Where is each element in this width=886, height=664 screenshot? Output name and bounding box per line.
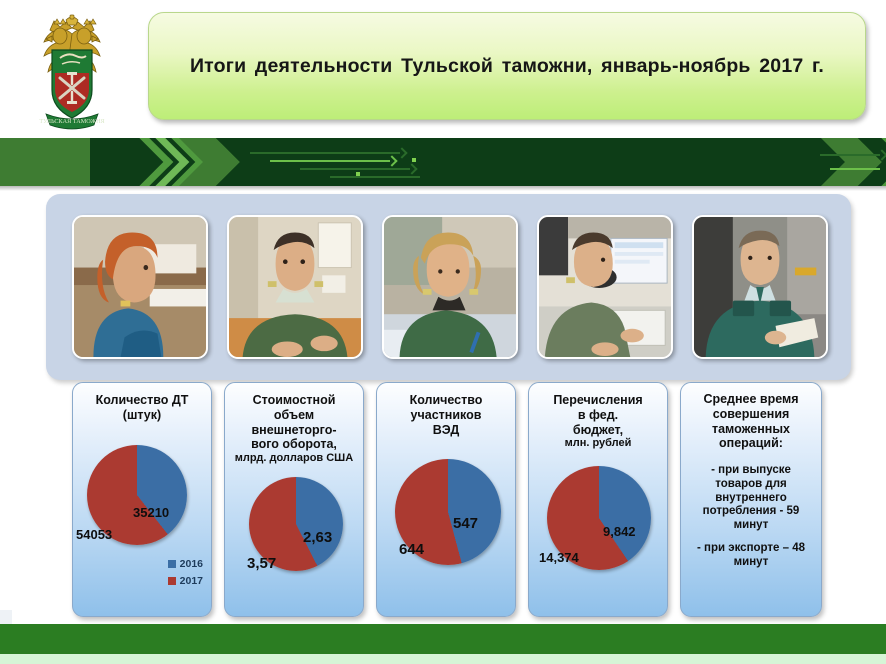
slide-title-box: Итоги деятельности Тульской таможни, янв… xyxy=(148,12,866,120)
panel-title-subunit: млрд. долларов США xyxy=(230,452,358,465)
panel-title-line: бюджет, xyxy=(534,423,662,438)
panel-title-line: объем xyxy=(230,408,358,423)
panel-title-line: Стоимостной xyxy=(230,393,358,408)
pie-label-2016: 9,842 xyxy=(603,524,636,539)
banner-arrow-tip-icon xyxy=(386,155,397,166)
panel-average-time-title: Среднее время совершения таможенных опер… xyxy=(681,383,821,451)
panel-declarations[interactable]: Количество ДТ (штук) 35210 54053 2016 20… xyxy=(72,382,212,617)
legend-swatch-icon xyxy=(168,560,176,568)
banner-arrow-icon xyxy=(830,168,880,170)
pie-label-2017: 644 xyxy=(399,541,424,558)
pie-label-2016: 547 xyxy=(453,515,478,532)
pie-chart-trade-volume: 2,63 3,57 xyxy=(225,477,363,571)
panel-title-line: внешнеторго- xyxy=(230,423,358,438)
panel-title-line: (штук) xyxy=(78,408,206,423)
panel-average-time-body: - при выпуске товаров для внутреннего по… xyxy=(681,451,821,570)
pie-chart-budget-transfers: 9,842 14,374 xyxy=(529,466,667,570)
panel-participants[interactable]: Количество участников ВЭД 547 644 xyxy=(376,382,516,617)
panel-budget-transfers[interactable]: Перечисления в фед. бюджет, млн. рублей … xyxy=(528,382,668,617)
banner-arrow-tip-icon xyxy=(406,163,417,174)
photo-strip-panel xyxy=(46,194,851,380)
slide-root: ТУЛЬСКАЯ ТАМОЖНЯ Итоги деятельности Туль… xyxy=(0,0,886,664)
bottom-green-bar xyxy=(0,624,886,654)
banner-arrow-icon xyxy=(250,152,400,154)
left-edge-filler xyxy=(0,610,12,624)
russian-customs-service-emblem: ТУЛЬСКАЯ ТАМОЖНЯ xyxy=(18,14,126,136)
pie-label-2016: 2,63 xyxy=(303,529,332,546)
banner-shadow xyxy=(0,186,886,191)
legend-label: 2016 xyxy=(180,558,203,570)
banner-arrow-icon xyxy=(330,176,420,178)
decorative-green-banner xyxy=(0,138,886,186)
banner-arrow-tip-icon xyxy=(396,147,407,158)
chart-legend: 2016 2017 xyxy=(168,558,203,592)
panel-declarations-title: Количество ДТ (штук) xyxy=(73,383,211,423)
banner-dot-icon xyxy=(412,158,416,162)
panel-title-line: вого оборота, xyxy=(230,437,358,452)
panel-title-line: Количество ДТ xyxy=(78,393,206,408)
photo-officer-male-computer xyxy=(537,215,673,359)
page-title: Итоги деятельности Тульской таможни, янв… xyxy=(190,55,824,78)
panel-title-line: Перечисления xyxy=(534,393,662,408)
pie-label-2017: 3,57 xyxy=(247,555,276,572)
panel-title-line: участников xyxy=(382,408,510,423)
svg-text:ТУЛЬСКАЯ ТАМОЖНЯ: ТУЛЬСКАЯ ТАМОЖНЯ xyxy=(39,118,104,125)
pie-chart-participants: 547 644 xyxy=(377,459,515,565)
panel-title-line: операций: xyxy=(686,436,816,451)
average-time-import: - при выпуске товаров для внутреннего по… xyxy=(687,464,815,533)
pie-chart-declarations: 35210 54053 xyxy=(73,445,211,545)
banner-arrow-icon xyxy=(300,168,410,170)
panel-title-line: Количество xyxy=(382,393,510,408)
average-time-export: - при экспорте – 48 минут xyxy=(687,542,815,570)
banner-dot-icon xyxy=(356,172,360,176)
panel-title-line: таможенных xyxy=(686,422,816,437)
banner-arrow-icon xyxy=(270,160,390,162)
photo-officer-female-blonde xyxy=(382,215,518,359)
pie-label-2016: 35210 xyxy=(133,505,169,520)
bottom-pale-strip xyxy=(0,654,886,664)
panel-participants-title: Количество участников ВЭД xyxy=(377,383,515,437)
banner-arrow-icon xyxy=(820,154,880,156)
legend-item-2017: 2017 xyxy=(168,575,203,587)
legend-swatch-icon xyxy=(168,577,176,585)
banner-light-block xyxy=(0,138,90,186)
panel-trade-volume[interactable]: Стоимостной объем внешнеторго- вого обор… xyxy=(224,382,364,617)
panel-title-line: в фед. xyxy=(534,408,662,423)
panel-budget-transfers-title: Перечисления в фед. бюджет, млн. рублей xyxy=(529,383,667,450)
banner-big-chevron-icon xyxy=(132,138,239,186)
photo-officer-male-desk xyxy=(227,215,363,359)
legend-label: 2017 xyxy=(180,575,203,587)
pie-label-2017: 14,374 xyxy=(539,550,579,565)
panel-trade-volume-title: Стоимостной объем внешнеторго- вого обор… xyxy=(225,383,363,465)
panel-title-line: совершения xyxy=(686,407,816,422)
photo-officer-female-red-hair xyxy=(72,215,208,359)
panel-title-subunit: млн. рублей xyxy=(534,437,662,450)
photo-officer-male-documents xyxy=(692,215,828,359)
legend-item-2016: 2016 xyxy=(168,558,203,570)
panel-average-time[interactable]: Среднее время совершения таможенных опер… xyxy=(680,382,822,617)
panel-title-line: Среднее время xyxy=(686,392,816,407)
pie-label-2017: 54053 xyxy=(76,527,112,542)
panel-title-line: ВЭД xyxy=(382,423,510,438)
